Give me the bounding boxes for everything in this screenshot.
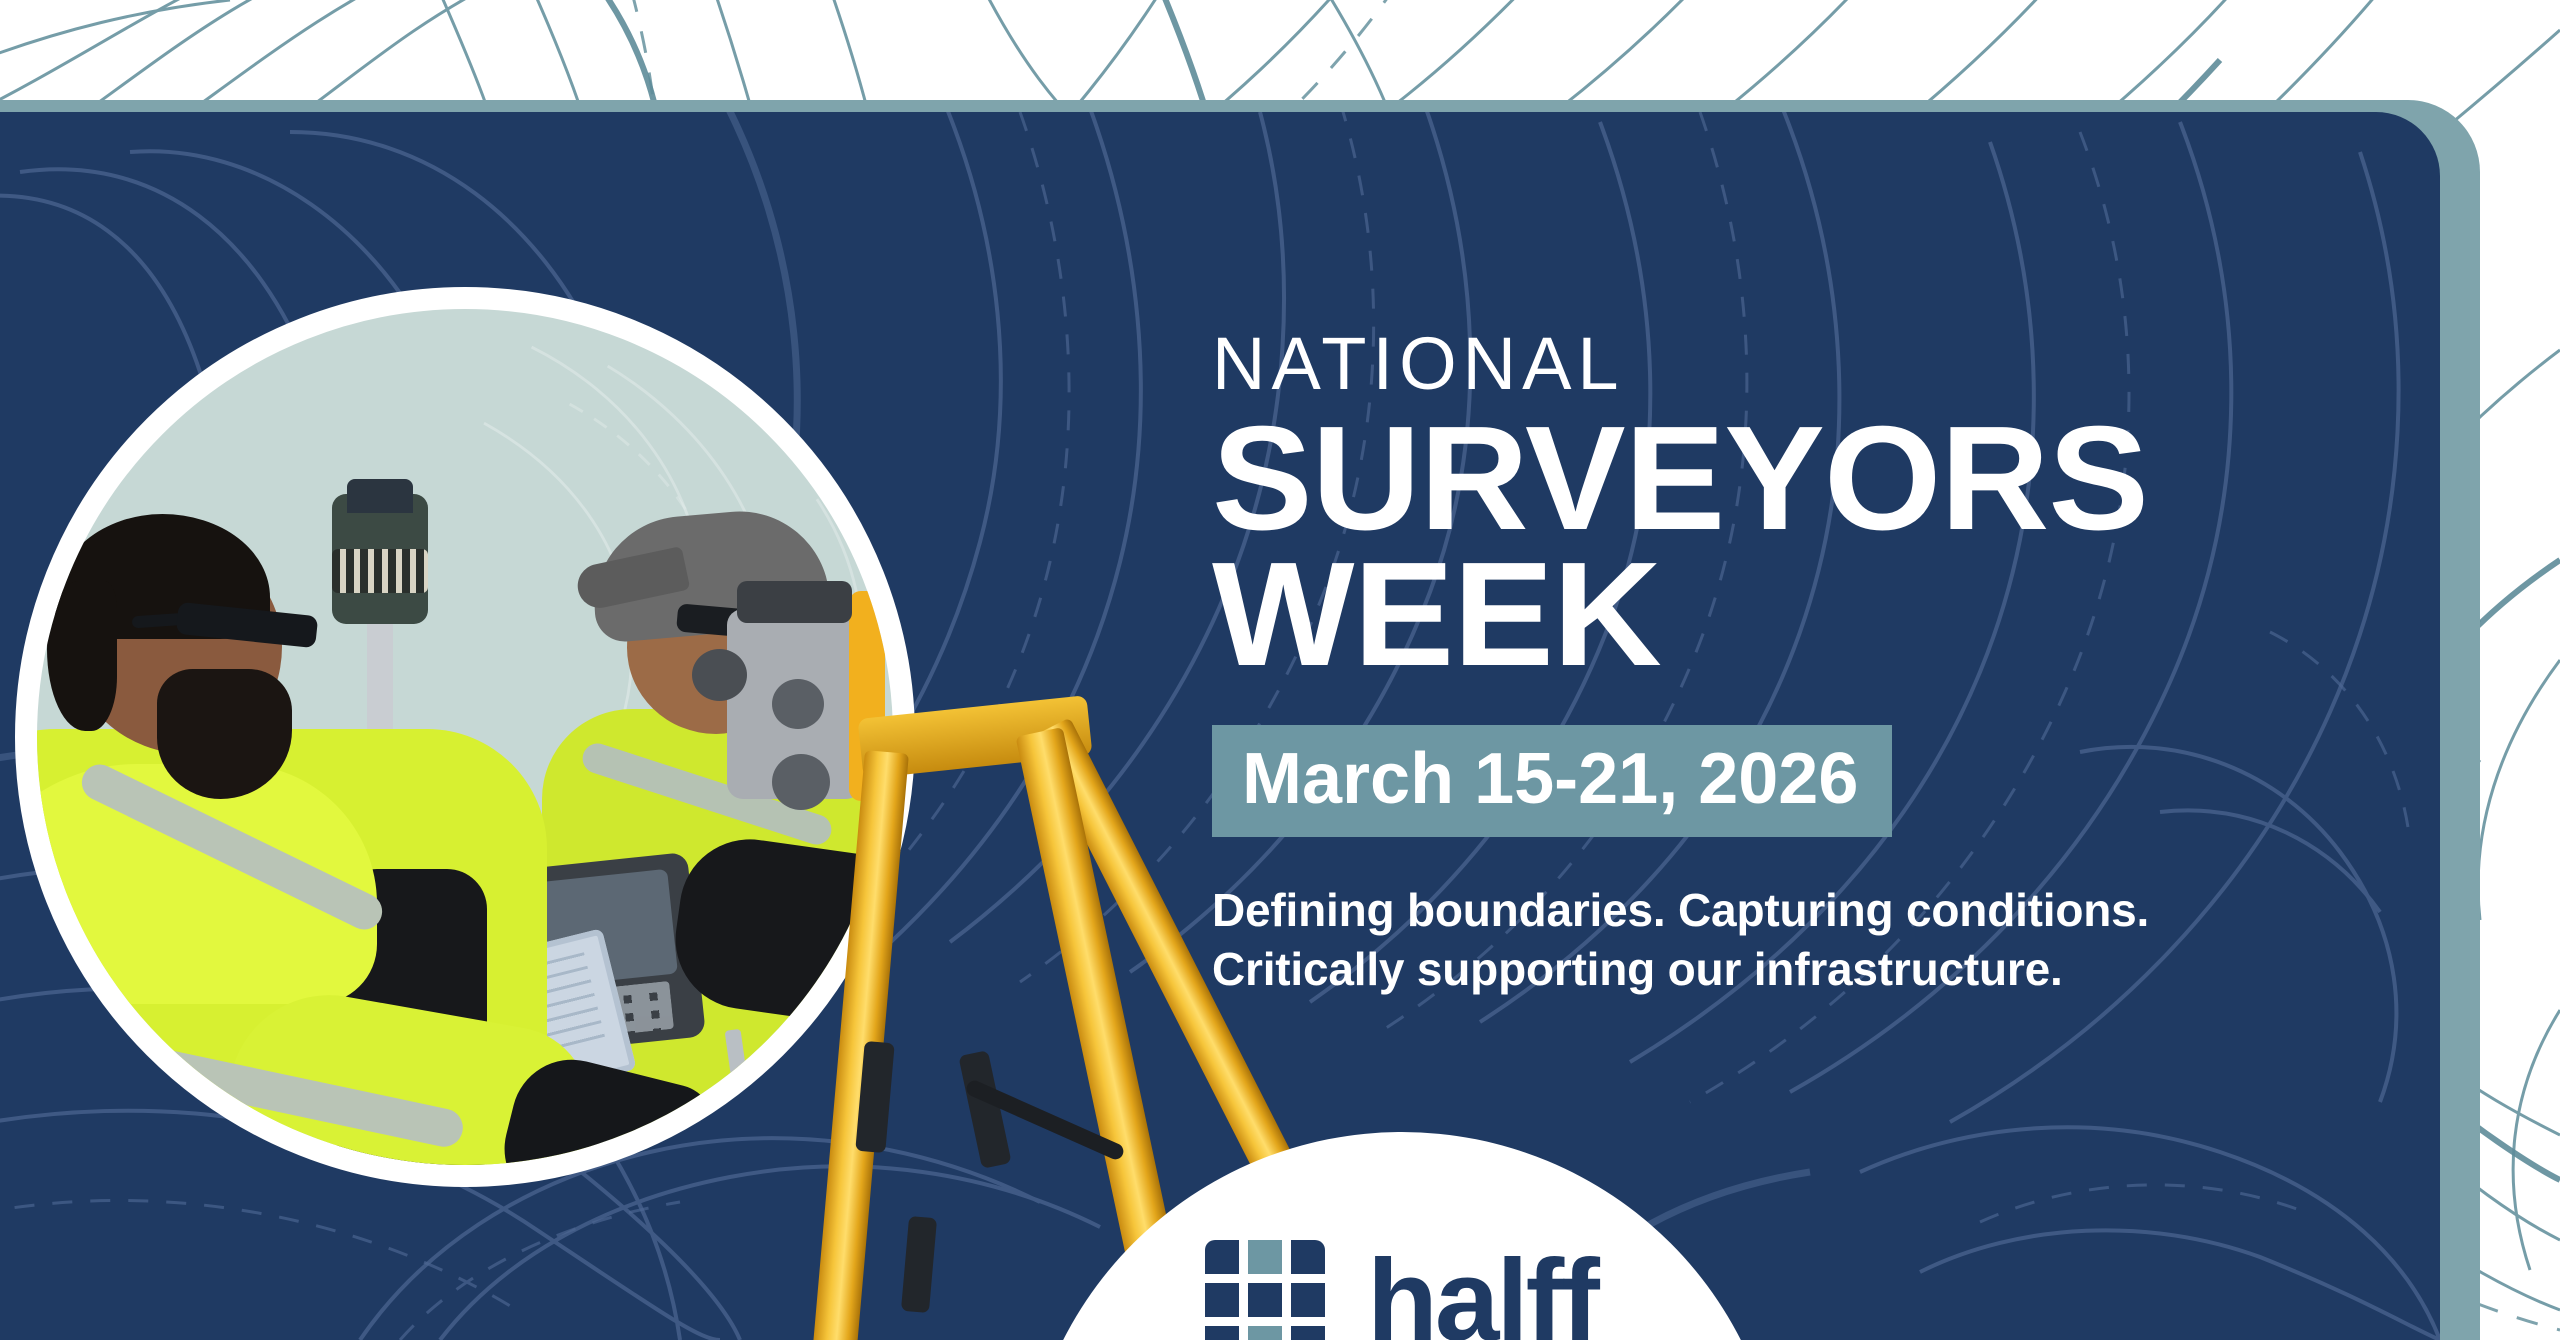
prism-ring [332,549,428,593]
mark-cell [1291,1283,1325,1317]
tagline-line-1: Defining boundaries. Capturing condition… [1212,881,2332,940]
mark-cell [1205,1240,1239,1274]
mark-cell [1291,1326,1325,1340]
halff-logo: halff [1205,1240,1597,1340]
date-badge-text: March 15-21, 2026 [1242,739,1858,819]
mark-cell-accent [1248,1326,1282,1340]
navy-card: NATIONAL SURVEYORS WEEK March 15-21, 202… [0,112,2440,1340]
mark-cell-accent [1248,1240,1282,1274]
total-station-eyepiece [692,649,747,701]
surveyors-photo-circle [15,287,915,1187]
headline-week: WEEK [1212,547,2354,683]
mark-cell [1248,1283,1282,1317]
tagline: Defining boundaries. Capturing condition… [1212,881,2332,999]
headline-surveyors: SURVEYORS [1212,411,2354,547]
date-badge: March 15-21, 2026 [1212,725,1892,837]
eyebrow-national: NATIONAL [1212,327,2332,401]
headline-block: NATIONAL SURVEYORS WEEK March 15-21, 202… [1212,327,2332,999]
halff-grid-mark-icon [1205,1240,1325,1340]
mark-cell [1205,1326,1239,1340]
mark-cell [1291,1240,1325,1274]
total-station-knob-lower [772,754,830,810]
tagline-line-2: Critically supporting our infrastructure… [1212,940,2332,999]
total-station-yellow-shell [849,591,885,801]
mark-cell [1205,1283,1239,1317]
total-station-top [737,581,852,623]
prism-cap [347,479,413,513]
halff-wordmark: halff [1367,1242,1597,1340]
total-station-knob-upper [772,679,824,729]
